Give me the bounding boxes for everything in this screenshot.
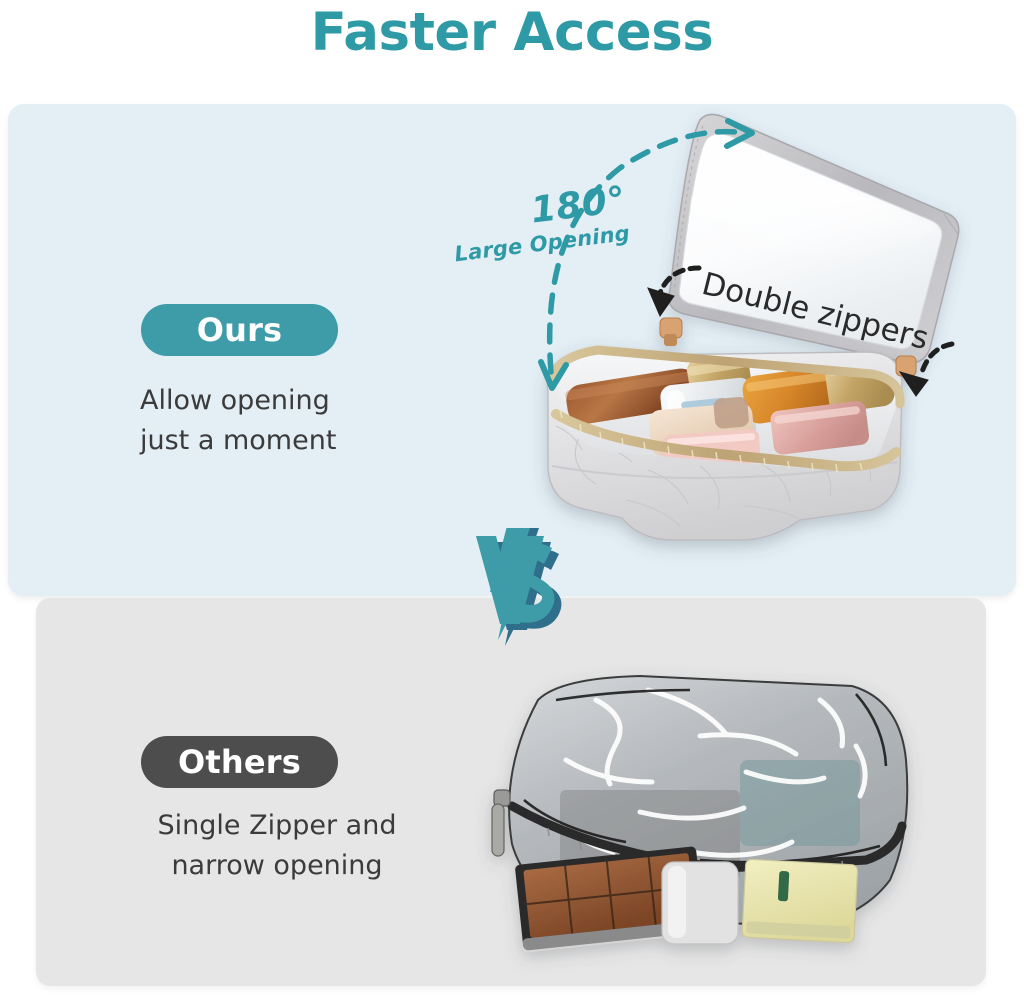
ours-badge-label: Ours	[197, 311, 283, 349]
page-title: Faster Access	[0, 2, 1024, 65]
versus-mark	[455, 528, 575, 646]
infographic-stage: Faster Access	[0, 0, 1024, 995]
others-badge: Others	[141, 736, 338, 788]
others-badge-label: Others	[178, 743, 301, 781]
others-panel	[36, 598, 986, 986]
others-caption: Single Zipper and narrow opening	[112, 806, 442, 886]
ours-badge: Ours	[141, 304, 338, 356]
ours-caption: Allow opening just a moment	[140, 381, 470, 461]
